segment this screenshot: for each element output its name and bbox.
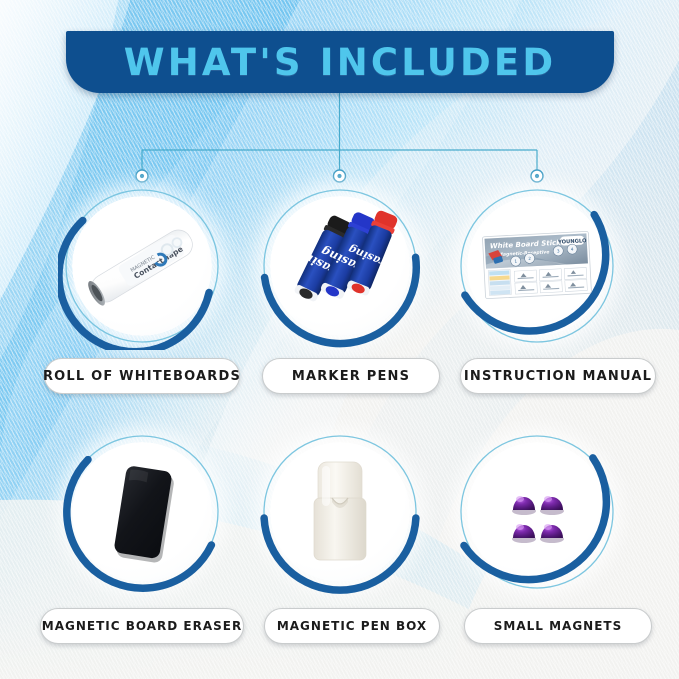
board-eraser-icon bbox=[72, 442, 212, 582]
product-tile-instruction-manual[interactable]: White Board Sticker Magnetic-Receptive Y… bbox=[453, 182, 621, 350]
product-tile-magnetic-board-eraser[interactable] bbox=[58, 428, 226, 596]
product-label-roll-of-whiteboards: ROLL OF WHITEBOARDS bbox=[44, 358, 240, 394]
magnets-icon bbox=[467, 442, 607, 582]
page-title: WHAT'S INCLUDED bbox=[124, 41, 557, 84]
pen-box-icon bbox=[270, 442, 410, 582]
product-label-magnetic-pen-box: MAGNETIC PEN BOX bbox=[264, 608, 440, 644]
header-banner: WHAT'S INCLUDED bbox=[66, 31, 614, 93]
infographic-canvas: WHAT'S INCLUDED bbox=[0, 0, 679, 679]
product-tile-magnetic-pen-box[interactable] bbox=[256, 428, 424, 596]
product-label-marker-pens: MARKER PENS bbox=[262, 358, 440, 394]
instruction-manual-icon: White Board Sticker Magnetic-Receptive Y… bbox=[467, 196, 607, 336]
product-label-small-magnets: SMALL MAGNETS bbox=[464, 608, 652, 644]
marker-pens-icon: Erasing Erasing bbox=[270, 196, 410, 336]
product-tile-roll-of-whiteboards[interactable]: MAGNETIC Contact Tape bbox=[58, 182, 226, 350]
product-label-magnetic-board-eraser: MAGNETIC BOARD ERASER bbox=[40, 608, 244, 644]
product-label-instruction-manual: INSTRUCTION MANUAL bbox=[460, 358, 656, 394]
whiteboard-roll-icon: MAGNETIC Contact Tape bbox=[72, 196, 212, 336]
product-tile-marker-pens[interactable]: Erasing Erasing bbox=[256, 182, 424, 350]
product-tile-small-magnets[interactable] bbox=[453, 428, 621, 596]
